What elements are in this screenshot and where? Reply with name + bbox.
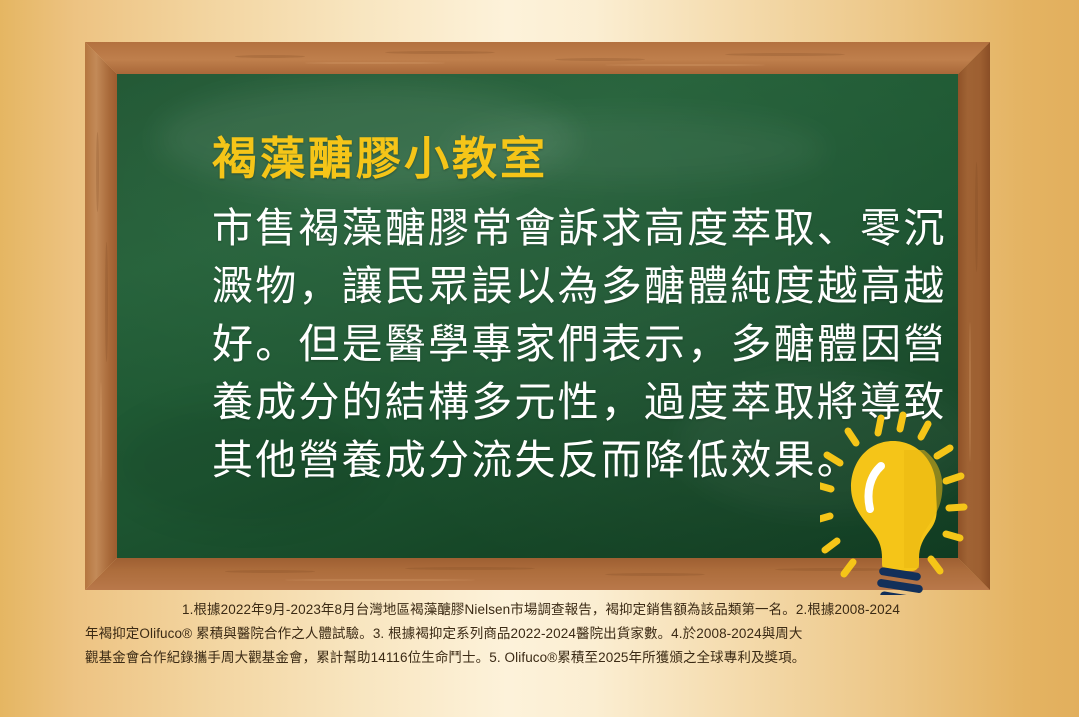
chalkboard-frame: 褐藻醣膠小教室 市售褐藻醣膠常會訴求高度萃取、零沉 澱物，讓民眾誤以為多醣體純度…	[85, 42, 990, 590]
frame-left-rail	[85, 42, 117, 590]
board-body-line-5: 其他營養成分流失反而降低效果。	[212, 431, 952, 489]
footnote-line-1: 1.根據2022年9月-2023年8月台灣地區褐藻醣膠Nielsen市場調查報告…	[85, 598, 997, 622]
page-title: 褐藻醣膠小教室	[212, 136, 952, 181]
board-body-line-4: 養成分的結構多元性，過度萃取將導致	[212, 373, 952, 431]
board-body-line-2: 澱物，讓民眾誤以為多醣體純度越高越	[212, 257, 952, 315]
footnote-line-3: 觀基金會合作紀錄攜手周大觀基金會，累計幫助14116位生命鬥士。5. Olifu…	[85, 646, 997, 670]
board-body-line-3: 好。但是醫學專家們表示，多醣體因營	[212, 315, 952, 373]
board-content: 褐藻醣膠小教室 市售褐藻醣膠常會訴求高度萃取、零沉 澱物，讓民眾誤以為多醣體純度…	[212, 136, 952, 489]
footnote-block: 1.根據2022年9月-2023年8月台灣地區褐藻醣膠Nielsen市場調查報告…	[85, 598, 997, 670]
frame-right-rail	[958, 42, 990, 590]
board-body-line-1: 市售褐藻醣膠常會訴求高度萃取、零沉	[212, 199, 952, 257]
frame-top-rail	[85, 42, 990, 74]
chalkboard-surface: 褐藻醣膠小教室 市售褐藻醣膠常會訴求高度萃取、零沉 澱物，讓民眾誤以為多醣體純度…	[117, 74, 958, 558]
poster-canvas: 褐藻醣膠小教室 市售褐藻醣膠常會訴求高度萃取、零沉 澱物，讓民眾誤以為多醣體純度…	[0, 0, 1079, 717]
footnote-line-2: 年褐抑定Olifuco® 累積與醫院合作之人體試驗。3. 根據褐抑定系列商品20…	[85, 622, 997, 646]
frame-bottom-rail	[85, 558, 990, 590]
